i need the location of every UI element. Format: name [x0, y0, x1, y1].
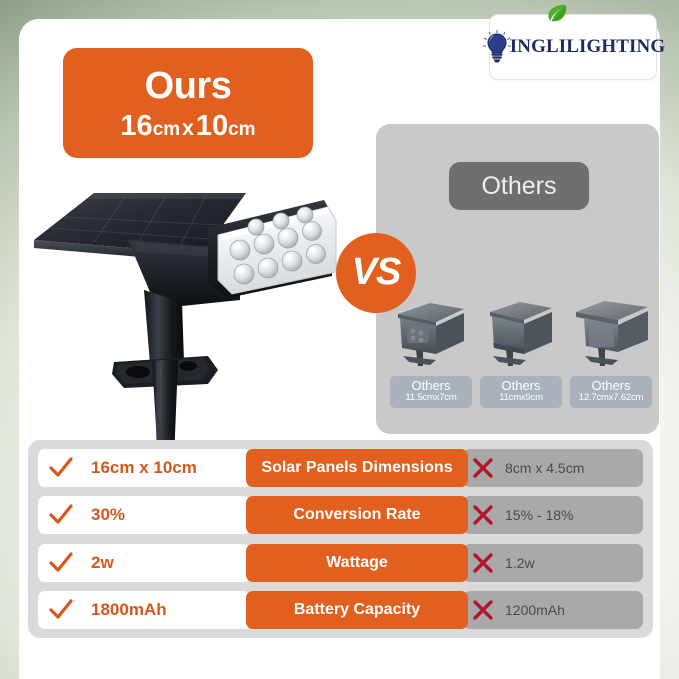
ours-value: 30%	[91, 505, 125, 525]
competitor-label: Others 11.5cmx7cm	[390, 376, 472, 408]
others-value: 1.2w	[505, 555, 535, 571]
ours-cell: 16cm x 10cm	[38, 449, 251, 487]
brand-logo: INGLILIGHTING	[489, 14, 657, 80]
others-value: 8cm x 4.5cm	[505, 460, 584, 476]
competitor-size: 12.7cmx7.62cm	[572, 393, 650, 404]
ours-dim-separator: x	[180, 117, 196, 140]
table-row: 2w Wattage 1.2w	[38, 544, 643, 582]
competitor-name: Others	[482, 379, 560, 394]
feature-cell: Conversion Rate	[246, 496, 468, 534]
leaf-icon	[546, 4, 568, 27]
cross-icon	[472, 457, 494, 479]
competitor-name: Others	[572, 379, 650, 394]
check-icon	[49, 599, 73, 621]
feature-label: Conversion Rate	[293, 506, 420, 524]
competitor-name: Others	[392, 379, 470, 394]
ours-value: 16cm x 10cm	[91, 458, 197, 478]
cross-icon	[472, 504, 494, 526]
cross-icon	[472, 599, 494, 621]
competitor-light-icon	[390, 296, 472, 370]
competitor-light-icon	[480, 296, 562, 370]
ours-dim-unit-2: cm	[228, 119, 255, 140]
others-cell: 8cm x 4.5cm	[463, 449, 643, 487]
vs-label: VS	[352, 251, 401, 294]
others-cell: 1200mAh	[463, 591, 643, 629]
lightbulb-icon	[481, 29, 513, 65]
list-item: Others 11cmx9cm	[480, 296, 562, 408]
ours-dim-value-2: 10	[196, 110, 228, 142]
ours-value: 1800mAh	[91, 600, 167, 620]
vs-badge: VS	[336, 233, 416, 313]
feature-cell: Solar Panels Dimensions	[246, 449, 468, 487]
check-icon	[49, 457, 73, 479]
others-cell: 1.2w	[463, 544, 643, 582]
competitor-size: 11.5cmx7cm	[392, 393, 470, 404]
check-icon	[49, 504, 73, 526]
feature-label: Battery Capacity	[294, 601, 420, 619]
table-row: 16cm x 10cm Solar Panels Dimensions 8cm …	[38, 449, 643, 487]
others-value: 1200mAh	[505, 602, 565, 618]
comparison-table: 16cm x 10cm Solar Panels Dimensions 8cm …	[28, 440, 653, 638]
feature-cell: Battery Capacity	[246, 591, 468, 629]
ours-value: 2w	[91, 553, 114, 573]
ours-dim-unit-1: cm	[153, 119, 180, 140]
others-cell: 15% - 18%	[463, 496, 643, 534]
ours-cell: 30%	[38, 496, 251, 534]
table-row: 30% Conversion Rate 15% - 18%	[38, 496, 643, 534]
ours-title: Ours	[145, 67, 232, 105]
feature-label: Wattage	[326, 554, 388, 572]
list-item: Others 12.7cmx7.62cm	[570, 296, 652, 408]
feature-label: Solar Panels Dimensions	[261, 459, 452, 477]
others-badge-label: Others	[481, 172, 556, 201]
infographic-canvas: INGLILIGHTING Ours 16cmx10cm	[0, 0, 679, 679]
others-badge: Others	[449, 162, 589, 210]
others-value: 15% - 18%	[505, 507, 573, 523]
competitor-label: Others 12.7cmx7.62cm	[570, 376, 652, 408]
cross-icon	[472, 552, 494, 574]
ours-badge: Ours 16cmx10cm	[63, 48, 313, 158]
competitor-products-list: Others 11.5cmx7cm	[390, 296, 652, 408]
brand-logo-inner: INGLILIGHTING	[481, 29, 665, 65]
ours-dimensions: 16cmx10cm	[120, 112, 255, 141]
feature-cell: Wattage	[246, 544, 468, 582]
ours-dim-value-1: 16	[120, 110, 152, 142]
table-row: 1800mAh Battery Capacity 1200mAh	[38, 591, 643, 629]
list-item: Others 11.5cmx7cm	[390, 296, 472, 408]
ours-cell: 1800mAh	[38, 591, 251, 629]
competitor-size: 11cmx9cm	[482, 393, 560, 404]
ours-cell: 2w	[38, 544, 251, 582]
competitor-label: Others 11cmx9cm	[480, 376, 562, 408]
solar-spotlight-icon	[32, 180, 342, 460]
check-icon	[49, 552, 73, 574]
brand-name: INGLILIGHTING	[510, 36, 665, 58]
competitor-light-icon	[570, 296, 652, 370]
